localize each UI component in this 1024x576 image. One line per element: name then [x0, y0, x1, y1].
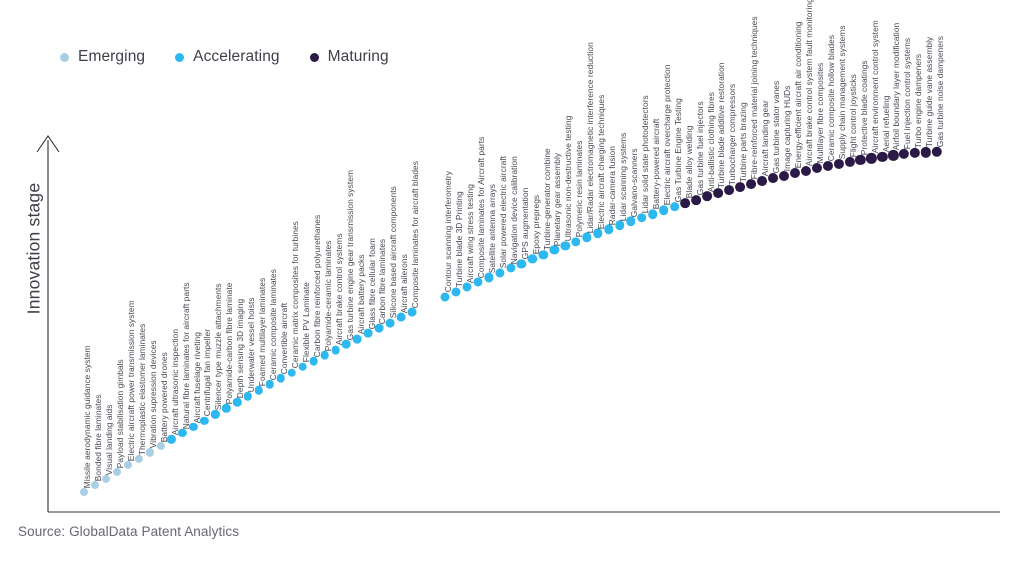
data-point-label: Energy-efficient aircraft air conditioni… [794, 22, 802, 169]
data-point[interactable] [834, 159, 844, 169]
data-point[interactable] [484, 273, 493, 282]
data-point-label: Thermoplastic elastomer laminates [138, 323, 146, 455]
data-point[interactable] [550, 246, 559, 255]
data-point[interactable] [692, 195, 702, 205]
data-point-label: Electric aircraft power transmission sys… [127, 301, 135, 462]
data-point[interactable] [80, 488, 88, 496]
data-point-label: Centrifugal fan impeller [203, 329, 211, 416]
data-point-label: Natural fibre laminates for aircraft par… [181, 282, 189, 429]
data-point-label: Aircraft ailerons [400, 254, 408, 313]
data-point[interactable] [932, 147, 942, 157]
data-point-label: Lidar scanning systems [619, 132, 627, 221]
data-point[interactable] [364, 329, 373, 338]
data-point[interactable] [255, 386, 263, 394]
data-point[interactable] [211, 410, 219, 418]
data-point-label: Depth sensing 3D imaging [236, 299, 244, 398]
data-point-label: Lidar solid state photodetectors [641, 95, 649, 213]
data-point-label: Planetary gear assembly [553, 152, 561, 245]
data-point[interactable] [823, 161, 833, 171]
data-point-label: Gas turbine fuel injectors [695, 101, 703, 195]
data-point-label: Polyamide-carbon fibre laminate [225, 283, 233, 405]
data-point[interactable] [266, 380, 275, 389]
data-point-label: Turbo engine dampeners [914, 54, 922, 148]
data-point[interactable] [855, 155, 865, 165]
data-point-label: Epoxy prepregs [531, 195, 539, 254]
data-point[interactable] [342, 340, 351, 349]
data-point-label: Gas turbine stator vanes [772, 81, 780, 173]
data-point-label: Electric aircraft overcharge protection [663, 65, 671, 206]
data-point[interactable] [506, 264, 515, 273]
data-point-label: Silicone based aircraft components [389, 186, 397, 318]
data-point[interactable] [615, 221, 625, 231]
data-point[interactable] [801, 166, 811, 176]
data-point-label: Turbocharger compressors [728, 84, 736, 185]
data-point[interactable] [277, 374, 286, 383]
data-point[interactable] [844, 157, 854, 167]
data-point-label: Aircraft ultrasonic inspection [170, 329, 178, 435]
data-point-label: Solar powered electric aircraft [499, 156, 507, 268]
data-point[interactable] [353, 334, 362, 343]
data-point[interactable] [146, 448, 154, 456]
data-point[interactable] [309, 357, 318, 366]
data-point-label: Underwater vessel hoists [247, 297, 255, 392]
data-point-label: Turbine guide vane assembly [925, 37, 933, 147]
data-point-label: Gas Turbine Engine Testing [674, 98, 682, 202]
data-point[interactable] [790, 168, 800, 178]
data-point-label: Multilayer fibre composites [816, 63, 824, 164]
data-point[interactable] [200, 416, 208, 424]
data-point-label: Satellite antenna arrays [488, 184, 496, 273]
data-point[interactable] [746, 179, 756, 189]
data-point[interactable] [648, 209, 658, 219]
data-point[interactable] [320, 351, 329, 360]
data-point-label: Galvano-scanners [630, 148, 638, 217]
data-point-label: Battery-powered aircraft [652, 119, 660, 210]
data-point-label: Composite laminates for Aircraft parts [477, 136, 485, 278]
data-point-label: Carbon fibre reinforced polyurethanes [313, 215, 321, 357]
data-point-label: Visual landing aids [105, 404, 113, 475]
source-note: Source: GlobalData Patent Analytics [18, 524, 239, 539]
data-point-label: Polymeric resin laminates [575, 140, 583, 237]
data-point-label: Flexible PV Laminate [302, 283, 310, 363]
data-point-label: Ultrasonic non-destructive testing [564, 116, 572, 242]
data-point-label: Aircraft battery packs [356, 255, 364, 335]
data-point-label: Turbine blade 3D Printing [455, 192, 463, 288]
data-point[interactable] [473, 278, 482, 287]
data-point-label: Image capturing HUDs [783, 85, 791, 171]
data-point[interactable] [135, 455, 143, 463]
data-point-label: Turbine blade additive restoration [717, 63, 725, 189]
data-point-label: Aircraft brake control systems [335, 234, 343, 346]
data-point[interactable] [298, 362, 307, 371]
data-point-label: Convertible aircraft [280, 303, 288, 374]
data-point[interactable] [921, 147, 931, 157]
data-point[interactable] [189, 423, 197, 431]
data-point[interactable] [244, 392, 252, 400]
data-point[interactable] [724, 185, 734, 195]
data-point[interactable] [451, 287, 460, 296]
data-point-label: Ceramic composite hollow blades [827, 35, 835, 161]
data-point-label: Supply chain management systems [838, 25, 846, 159]
data-point[interactable] [670, 202, 680, 212]
data-point[interactable] [571, 237, 580, 246]
data-point[interactable] [681, 198, 691, 208]
data-point[interactable] [757, 176, 767, 186]
data-point-label: Aircraft landing gear [761, 100, 769, 176]
data-point[interactable] [517, 259, 526, 268]
data-point-label: Fibre-reinforced material joining techni… [750, 17, 758, 180]
data-point-label: Gas turbine noise dampeners [936, 36, 944, 147]
data-point[interactable] [812, 163, 822, 173]
data-point-label: Protective blade coatings [859, 60, 867, 155]
data-point-label: Fuel injection control systems [903, 38, 911, 149]
data-point[interactable] [233, 398, 241, 406]
data-point-label: GPS augmentation [520, 188, 528, 260]
data-point-label: Turbine parts brazing [739, 102, 747, 182]
data-point[interactable] [222, 404, 230, 412]
data-point-label: Glass fibre cellular foam [367, 238, 375, 329]
data-point-label: Navigation device calibration [509, 156, 517, 264]
data-point-label: Polyamide-ceramic laminates [324, 241, 332, 352]
data-point[interactable] [604, 225, 613, 234]
data-point[interactable] [582, 233, 591, 242]
data-point[interactable] [178, 429, 186, 437]
data-point[interactable] [124, 461, 132, 469]
scatter-points-layer: Missile aerodynamic guidance systemBonde… [0, 0, 1024, 576]
data-point-label: Turbine-generator combine [542, 148, 550, 250]
data-point[interactable] [626, 217, 636, 227]
data-point-label: Composite laminates for aircraft blades [411, 161, 419, 308]
data-point[interactable] [659, 205, 669, 215]
data-point-label: Electric aircraft charging techniques [597, 94, 605, 229]
data-point-label: Radar-camera fusion [608, 146, 616, 225]
data-point-label: Aircraft wing stress testing [466, 184, 474, 283]
data-point[interactable] [910, 148, 920, 158]
data-point-label: Contour scanning interferometry [444, 171, 452, 292]
data-point[interactable] [408, 308, 417, 317]
data-point[interactable] [637, 213, 647, 223]
data-point-label: Silencer type muzzle attachments [214, 284, 222, 411]
data-point[interactable] [768, 173, 778, 183]
data-point[interactable] [397, 313, 406, 322]
data-point-label: Foamed multilayer laminates [258, 278, 266, 386]
data-point-label: Vibration supression devices [149, 341, 157, 449]
data-point-label: Battery powered drones [160, 352, 168, 442]
data-point-label: Flight control joysticks [849, 74, 857, 157]
data-point[interactable] [877, 152, 887, 162]
data-point[interactable] [440, 292, 449, 301]
data-point-label: Payload stabilisation gimbals [116, 359, 124, 468]
data-point[interactable] [888, 150, 898, 160]
data-point[interactable] [561, 241, 570, 250]
data-point[interactable] [91, 481, 99, 489]
data-point-label: Ceramic composite laminates [269, 269, 277, 380]
data-point[interactable] [866, 153, 876, 163]
data-point-label: Anti-ballistic clothing fibres [706, 92, 714, 192]
data-point[interactable] [331, 345, 340, 354]
data-point[interactable] [702, 192, 712, 202]
data-point-label: Missile aerodynamic guidance system [83, 345, 91, 488]
data-point[interactable] [113, 468, 121, 476]
data-point[interactable] [462, 283, 471, 292]
data-point[interactable] [539, 250, 548, 259]
data-point[interactable] [386, 318, 395, 327]
data-point-label: Bonded fibre laminates [94, 395, 102, 482]
data-point-label: Aerial refueling [881, 95, 889, 152]
data-point-label: Gas turbine engine gear transmission sys… [345, 170, 353, 340]
data-point-label: Airfoil boundary layer modification [892, 23, 900, 150]
data-point[interactable] [167, 435, 175, 443]
data-point[interactable] [779, 171, 789, 181]
data-point-label: Carbon fibre laminates [378, 238, 386, 323]
data-point[interactable] [713, 188, 723, 198]
data-point[interactable] [528, 254, 537, 263]
data-point[interactable] [156, 442, 164, 450]
data-point[interactable] [593, 229, 602, 238]
data-point[interactable] [735, 182, 745, 192]
data-point-label: Aircraft fuselage riveting [192, 332, 200, 423]
data-point[interactable] [899, 149, 909, 159]
data-point[interactable] [102, 475, 110, 483]
data-point-label: Ceramic matrix composites for turbines [291, 221, 299, 368]
data-point[interactable] [495, 268, 504, 277]
data-point-label: Aircraft environment control system [870, 20, 878, 153]
data-point[interactable] [287, 368, 296, 377]
data-point-label: Blade alloy welding [684, 126, 692, 199]
data-point[interactable] [375, 324, 384, 333]
data-point-label: Lidar/Radar electromagnetic interference… [586, 42, 594, 233]
data-point-label: Aircraft brake control system fault moni… [805, 0, 813, 166]
